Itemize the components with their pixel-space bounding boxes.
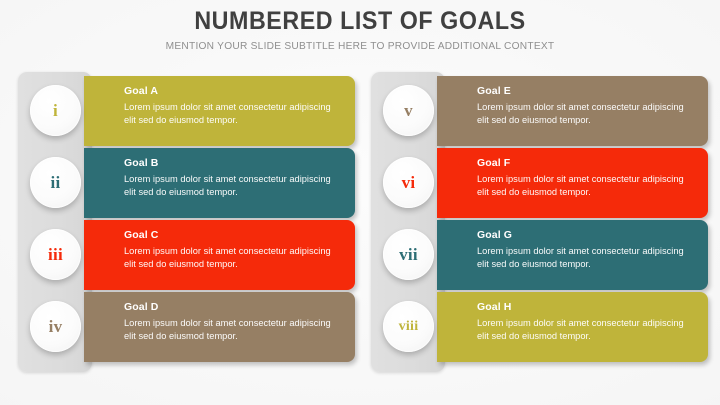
goal-card[interactable]: Goal B Lorem ipsum dolor sit amet consec… — [84, 148, 355, 218]
goal-description: Lorem ipsum dolor sit amet consectetur a… — [124, 101, 343, 127]
numeral-badge[interactable]: i — [30, 85, 81, 136]
goal-description: Lorem ipsum dolor sit amet consectetur a… — [124, 173, 343, 199]
goal-card[interactable]: Goal G Lorem ipsum dolor sit amet consec… — [437, 220, 708, 290]
numeral-label: vii — [399, 246, 418, 263]
numeral-badge[interactable]: vi — [383, 157, 434, 208]
numeral-badge[interactable]: vii — [383, 229, 434, 280]
goal-row[interactable]: Goal A Lorem ipsum dolor sit amet consec… — [18, 76, 355, 146]
goal-description: Lorem ipsum dolor sit amet consectetur a… — [477, 173, 696, 199]
goal-title: Goal D — [124, 301, 343, 314]
numeral-label: iii — [48, 246, 63, 263]
goal-columns: Goal A Lorem ipsum dolor sit amet consec… — [0, 72, 720, 382]
slide: NUMBERED LIST OF GOALS MENTION YOUR SLID… — [0, 0, 720, 405]
goal-description: Lorem ipsum dolor sit amet consectetur a… — [477, 101, 696, 127]
goal-row[interactable]: Goal F Lorem ipsum dolor sit amet consec… — [371, 148, 708, 218]
goal-row[interactable]: Goal C Lorem ipsum dolor sit amet consec… — [18, 220, 355, 290]
numeral-badge[interactable]: viii — [383, 301, 434, 352]
goal-card[interactable]: Goal C Lorem ipsum dolor sit amet consec… — [84, 220, 355, 290]
left-column: Goal A Lorem ipsum dolor sit amet consec… — [18, 72, 355, 372]
goal-title: Goal A — [124, 85, 343, 98]
numeral-label: vi — [402, 174, 416, 191]
goal-card[interactable]: Goal E Lorem ipsum dolor sit amet consec… — [437, 76, 708, 146]
numeral-label: i — [53, 102, 58, 119]
goal-title: Goal C — [124, 229, 343, 242]
right-column-rows: Goal E Lorem ipsum dolor sit amet consec… — [371, 72, 708, 372]
goal-title: Goal H — [477, 301, 696, 314]
numeral-badge[interactable]: v — [383, 85, 434, 136]
numeral-badge[interactable]: iv — [30, 301, 81, 352]
goal-card[interactable]: Goal A Lorem ipsum dolor sit amet consec… — [84, 76, 355, 146]
goal-description: Lorem ipsum dolor sit amet consectetur a… — [124, 317, 343, 343]
goal-row[interactable]: Goal G Lorem ipsum dolor sit amet consec… — [371, 220, 708, 290]
left-column-rows: Goal A Lorem ipsum dolor sit amet consec… — [18, 72, 355, 372]
numeral-label: ii — [50, 174, 60, 191]
goal-card[interactable]: Goal D Lorem ipsum dolor sit amet consec… — [84, 292, 355, 362]
goal-description: Lorem ipsum dolor sit amet consectetur a… — [124, 245, 343, 271]
goal-title: Goal G — [477, 229, 696, 242]
goal-title: Goal F — [477, 157, 696, 170]
goal-card[interactable]: Goal H Lorem ipsum dolor sit amet consec… — [437, 292, 708, 362]
numeral-label: viii — [399, 320, 419, 334]
goal-card[interactable]: Goal F Lorem ipsum dolor sit amet consec… — [437, 148, 708, 218]
numeral-label: iv — [49, 318, 63, 335]
goal-title: Goal B — [124, 157, 343, 170]
goal-description: Lorem ipsum dolor sit amet consectetur a… — [477, 245, 696, 271]
numeral-badge[interactable]: ii — [30, 157, 81, 208]
goal-row[interactable]: Goal E Lorem ipsum dolor sit amet consec… — [371, 76, 708, 146]
page-title: NUMBERED LIST OF GOALS — [25, 8, 695, 34]
slide-header: NUMBERED LIST OF GOALS MENTION YOUR SLID… — [0, 8, 720, 52]
page-subtitle: MENTION YOUR SLIDE SUBTITLE HERE TO PROV… — [11, 40, 709, 52]
goal-row[interactable]: Goal D Lorem ipsum dolor sit amet consec… — [18, 292, 355, 362]
goal-title: Goal E — [477, 85, 696, 98]
numeral-label: v — [404, 102, 413, 119]
goal-row[interactable]: Goal H Lorem ipsum dolor sit amet consec… — [371, 292, 708, 362]
right-column: Goal E Lorem ipsum dolor sit amet consec… — [371, 72, 708, 372]
goal-row[interactable]: Goal B Lorem ipsum dolor sit amet consec… — [18, 148, 355, 218]
numeral-badge[interactable]: iii — [30, 229, 81, 280]
goal-description: Lorem ipsum dolor sit amet consectetur a… — [477, 317, 696, 343]
